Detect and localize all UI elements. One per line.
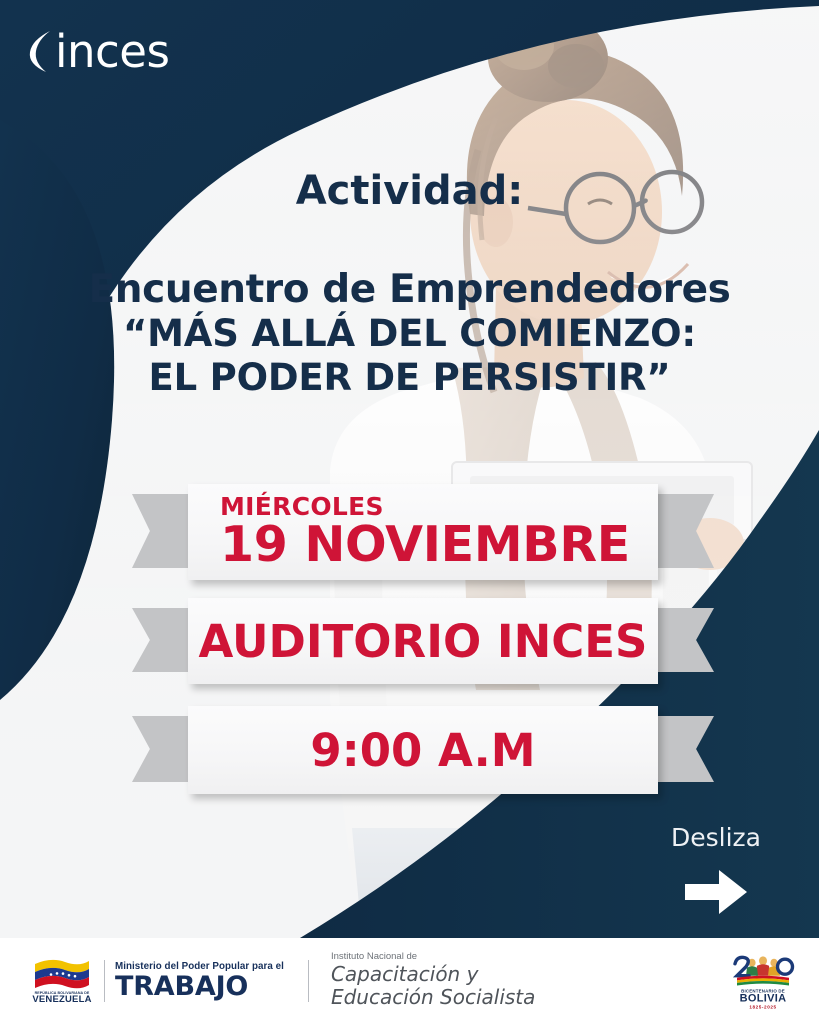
event-title: Encuentro de Emprendedores “MÁS ALLÁ DEL… [0, 268, 819, 400]
footer-divider-2 [308, 960, 309, 1002]
inces-logo-text: inces [55, 29, 169, 74]
event-title-line3: EL PODER DE PERSISTIR” [0, 356, 819, 400]
ribbon-date: MIÉRCOLES 19 NOVIEMBRE [188, 484, 658, 580]
venue-value: AUDITORIO INCES [199, 619, 648, 664]
date-value: 19 NOVIEMBRE [220, 520, 630, 570]
ribbon-venue-panel: AUDITORIO INCES [188, 598, 658, 684]
activity-label: Actividad: [0, 168, 819, 214]
ministry-block: Ministerio del Poder Popular para el TRA… [115, 962, 284, 1000]
flag-caption-main: VENEZUELA [32, 995, 91, 1005]
flyer-canvas: inces Actividad: Encuentro de Emprendedo… [0, 0, 819, 1024]
institute-line2: Educación Socialista [331, 986, 535, 1010]
bicentennial-emblem-icon [729, 952, 797, 990]
venezuela-flag-icon [31, 957, 93, 991]
event-title-line1: Encuentro de Emprendedores [0, 268, 819, 312]
crescent-leaf-icon [26, 28, 52, 74]
footer-left-group: REPÚBLICA BOLIVARIANA DE VENEZUELA Minis… [30, 952, 535, 1010]
institute-block: Instituto Nacional de Capacitación y Edu… [331, 952, 535, 1010]
footer-bar: REPÚBLICA BOLIVARIANA DE VENEZUELA Minis… [0, 938, 819, 1024]
ministry-main-line: TRABAJO [115, 973, 284, 1000]
bicentennial-block: BICENTENARIO DE BOLIVIA 1825-2025 [729, 952, 797, 1011]
ribbon-time-panel: 9:00 A.M [188, 706, 658, 794]
swipe-arrow-wrap [641, 866, 791, 918]
swipe-hint[interactable]: Desliza [641, 824, 791, 918]
ribbon-venue: AUDITORIO INCES [188, 598, 658, 684]
ribbon-time: 9:00 A.M [188, 706, 658, 794]
footer-divider-1 [104, 960, 105, 1002]
ribbon-date-panel: MIÉRCOLES 19 NOVIEMBRE [188, 484, 658, 580]
bicentenario-bolivia-icon: BICENTENARIO DE BOLIVIA 1825-2025 [729, 952, 797, 1011]
institute-line1: Capacitación y [331, 963, 535, 987]
event-title-line2: “MÁS ALLÁ DEL COMIENZO: [0, 312, 819, 356]
venezuela-flag-block: REPÚBLICA BOLIVARIANA DE VENEZUELA [30, 957, 94, 1006]
arrow-right-icon [683, 866, 749, 918]
bicentennial-sub-line3: 1825-2025 [749, 1006, 776, 1011]
swipe-label: Desliza [641, 824, 791, 852]
time-value: 9:00 A.M [310, 728, 535, 773]
inces-logo[interactable]: inces [26, 28, 169, 74]
